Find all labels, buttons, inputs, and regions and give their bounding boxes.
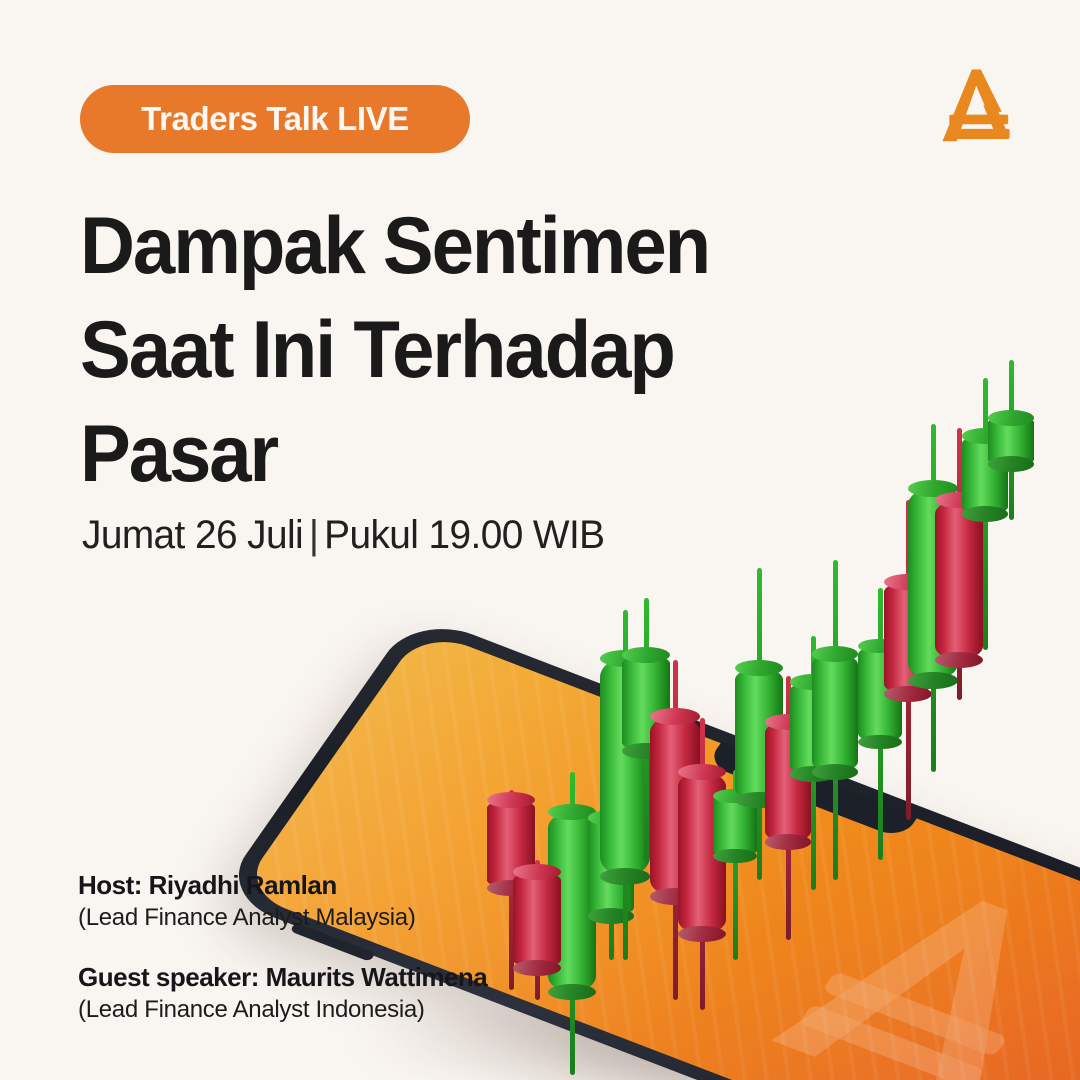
- headline-line-2: Saat Ini Terhadap: [80, 298, 794, 402]
- poster-canvas: Traders Talk LIVE Dampak Sentimen Saat I…: [0, 0, 1080, 1080]
- live-badge-label: Traders Talk LIVE: [141, 100, 409, 138]
- event-time: Pukul 19.00 WIB: [324, 513, 604, 557]
- headline-line-3: Pasar: [80, 402, 794, 506]
- event-datetime: Jumat 26 Juli|Pukul 19.00 WIB: [82, 513, 604, 558]
- event-date: Jumat 26 Juli: [82, 513, 303, 557]
- brand-a-logo-icon: [930, 64, 1022, 156]
- speaker-credits: Host: Riyadhi Ramlan (Lead Finance Analy…: [78, 868, 487, 1052]
- credit-host-role: (Lead Finance Analyst Malaysia): [78, 902, 487, 934]
- headline-line-1: Dampak Sentimen: [80, 194, 794, 298]
- page-title: Dampak Sentimen Saat Ini Terhadap Pasar: [80, 194, 794, 506]
- credit-host-name: Host: Riyadhi Ramlan: [78, 868, 487, 902]
- text-layer: Traders Talk LIVE Dampak Sentimen Saat I…: [0, 0, 1080, 1080]
- credit-guest-role: (Lead Finance Analyst Indonesia): [78, 994, 487, 1026]
- credit-host: Host: Riyadhi Ramlan (Lead Finance Analy…: [78, 868, 487, 934]
- datetime-separator: |: [303, 513, 324, 557]
- live-badge[interactable]: Traders Talk LIVE: [80, 85, 470, 153]
- credit-guest: Guest speaker: Maurits Wattimena (Lead F…: [78, 960, 487, 1026]
- credit-guest-name: Guest speaker: Maurits Wattimena: [78, 960, 487, 994]
